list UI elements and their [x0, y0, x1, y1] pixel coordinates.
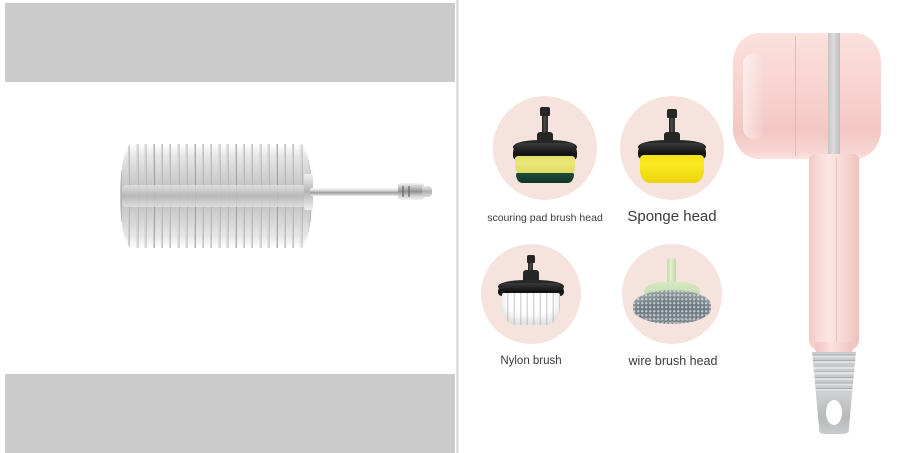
scouring-pad-head-circle [493, 96, 597, 200]
wire-brush-head-circle [622, 244, 722, 344]
device-head-highlight [743, 53, 765, 139]
top-grey-band [5, 3, 455, 82]
sponge-head-label: Sponge head [611, 208, 733, 225]
device-head-seam [795, 36, 796, 156]
wire-brush-head-label: wire brush head [611, 354, 735, 368]
handheld-cleaning-brush-device [733, 22, 903, 432]
device-grey-ring [828, 33, 840, 159]
device-handle-seam [836, 158, 837, 350]
nylon-brush-circle [481, 244, 581, 344]
scouring-pad-head-label: scouring pad brush head [459, 212, 631, 224]
brush-hex-connector [398, 183, 424, 200]
right-accessories-panel: scouring pad brush head Sponge head [459, 0, 919, 453]
device-handle [809, 154, 859, 350]
device-motor-head [733, 33, 881, 159]
bottom-grey-band [5, 374, 455, 453]
device-hanging-hole [826, 400, 842, 425]
brush-end-pin [422, 186, 432, 197]
sponge-head-circle [620, 96, 724, 200]
bottle-brush-product-photo [78, 138, 428, 254]
product-image-canvas: scouring pad brush head Sponge head [0, 0, 919, 453]
device-ribbed-grip [809, 352, 859, 394]
left-product-panel [0, 0, 458, 453]
brush-core-shaft [122, 185, 312, 207]
nylon-brush-label: Nylon brush [472, 355, 590, 367]
